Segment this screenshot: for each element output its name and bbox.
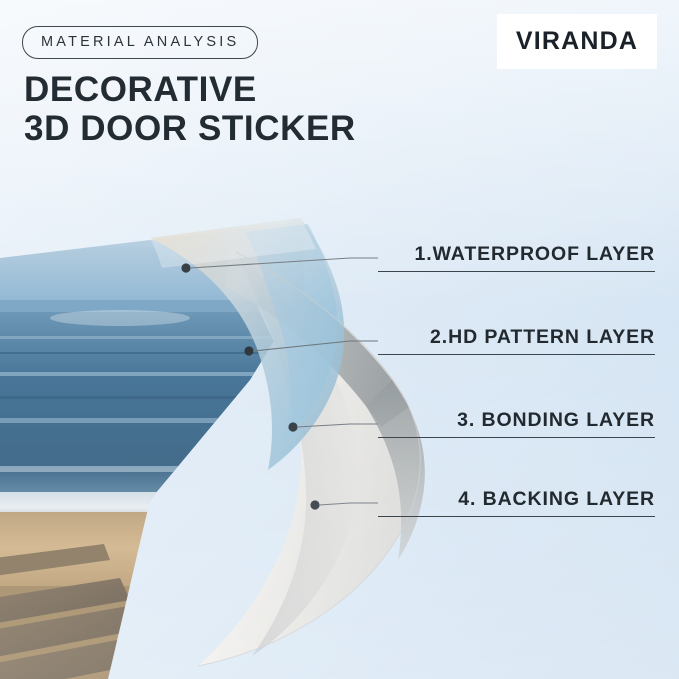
dot-layer-3 bbox=[288, 422, 297, 431]
brand-panel: VIRANDA bbox=[497, 14, 657, 69]
title-line-1: DECORATIVE bbox=[24, 70, 356, 109]
callout-label-1: 1.WATERPROOF LAYER bbox=[415, 243, 655, 265]
callout-rule-2 bbox=[378, 354, 655, 356]
callout-hd-pattern-layer: 2.HD PATTERN LAYER bbox=[378, 326, 655, 355]
eyebrow-badge: MATERIAL ANALYSIS bbox=[22, 26, 258, 59]
dot-layer-1 bbox=[181, 263, 190, 272]
page-title: DECORATIVE 3D DOOR STICKER bbox=[24, 70, 356, 148]
brand-name: VIRANDA bbox=[516, 27, 638, 56]
callout-backing-layer: 4. BACKING LAYER bbox=[378, 488, 655, 517]
dot-layer-2 bbox=[244, 346, 253, 355]
dot-layer-4 bbox=[310, 500, 319, 509]
title-line-2: 3D DOOR STICKER bbox=[24, 109, 356, 148]
callout-rule-4 bbox=[378, 516, 655, 518]
callout-label-4: 4. BACKING LAYER bbox=[458, 488, 655, 510]
callout-label-2: 2.HD PATTERN LAYER bbox=[430, 326, 655, 348]
eyebrow-label: MATERIAL ANALYSIS bbox=[41, 34, 239, 50]
callout-bonding-layer: 3. BONDING LAYER bbox=[378, 409, 655, 438]
poster-canvas: MATERIAL ANALYSIS DECORATIVE 3D DOOR STI… bbox=[0, 0, 679, 679]
callout-rule-1 bbox=[378, 271, 655, 273]
callout-waterproof-layer: 1.WATERPROOF LAYER bbox=[378, 243, 655, 272]
callout-label-3: 3. BONDING LAYER bbox=[457, 409, 655, 431]
callout-rule-3 bbox=[378, 437, 655, 439]
